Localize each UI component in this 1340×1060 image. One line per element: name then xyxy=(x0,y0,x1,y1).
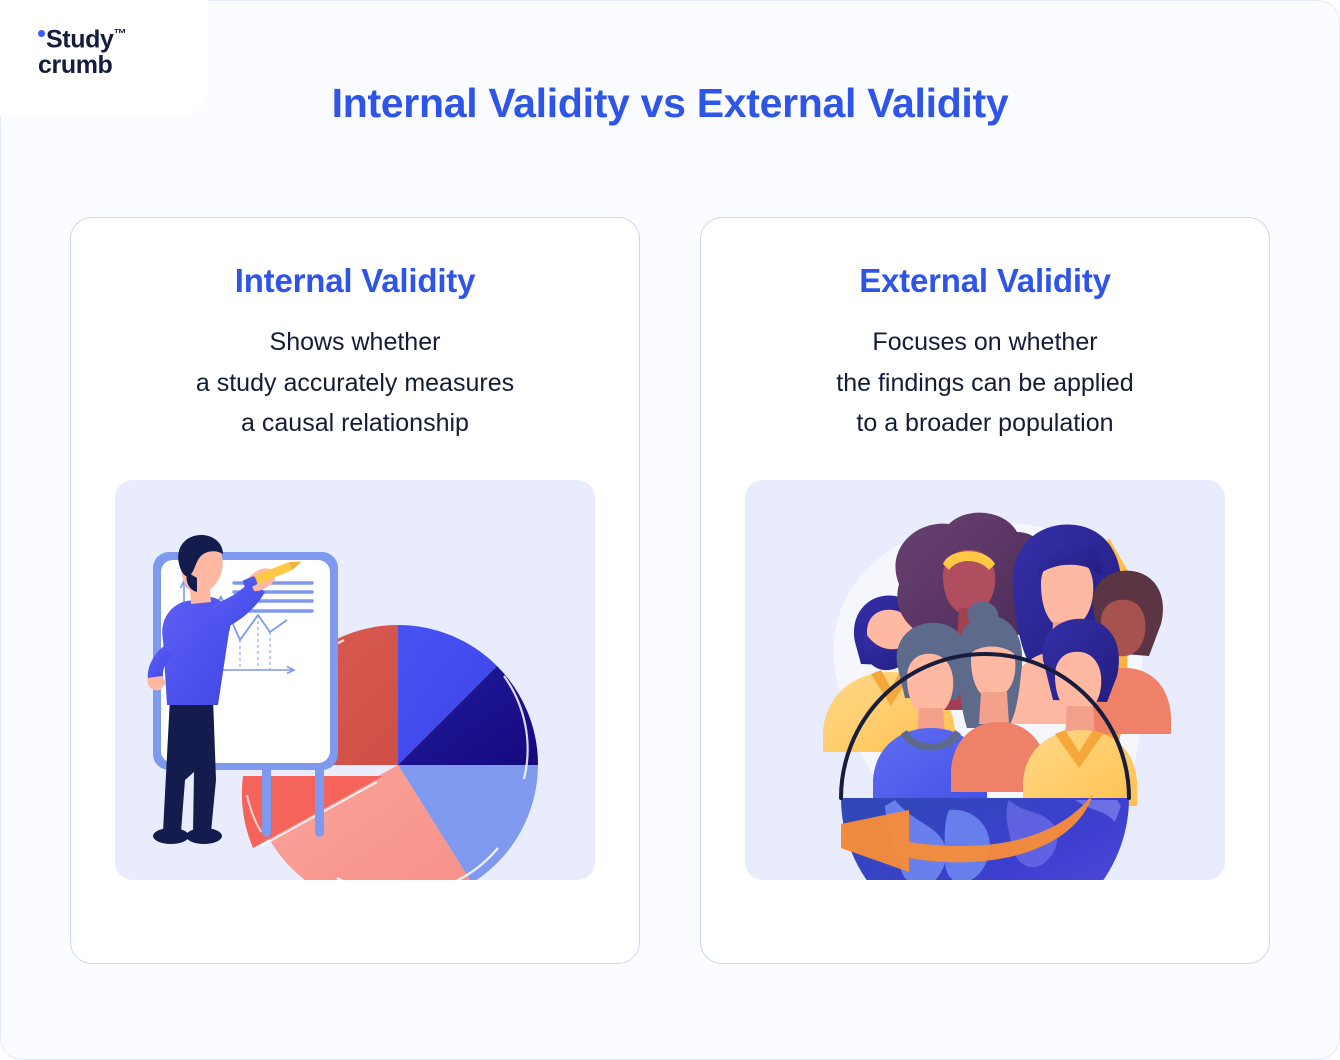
illustration-panel-internal xyxy=(115,480,595,880)
person-shoe-right xyxy=(186,828,222,844)
diverse-people-globe-illustration xyxy=(745,480,1225,880)
brand-logo-line-1: Study™ xyxy=(38,27,126,53)
comparison-cards: Internal Validity Shows whether a study … xyxy=(70,217,1270,964)
description-line: a study accurately measures xyxy=(196,363,514,404)
description-line: Focuses on whether xyxy=(836,322,1133,363)
easel-leg-mid xyxy=(262,765,271,837)
person-pants xyxy=(163,698,216,832)
description-line: to a broader population xyxy=(836,403,1133,444)
card-internal-validity: Internal Validity Shows whether a study … xyxy=(70,217,640,964)
person-neck xyxy=(979,692,1009,724)
brand-dot-icon xyxy=(38,30,45,37)
description-line: the findings can be applied xyxy=(836,363,1133,404)
description-line: a causal relationship xyxy=(196,403,514,444)
pie-chart-presentation-illustration xyxy=(115,480,595,880)
card-title-external: External Validity xyxy=(859,262,1111,300)
trademark-icon: ™ xyxy=(113,26,126,41)
description-line: Shows whether xyxy=(196,322,514,363)
infographic-canvas: Study™ crumb Internal Validity vs Extern… xyxy=(0,0,1340,1060)
person-shoe-left xyxy=(153,828,189,844)
brand-logo-line-2: crumb xyxy=(38,53,126,79)
card-external-validity: External Validity Focuses on whether the… xyxy=(700,217,1270,964)
brand-name-study: Study xyxy=(46,25,113,53)
easel-leg-right xyxy=(315,765,324,837)
card-description-external: Focuses on whether the findings can be a… xyxy=(836,322,1133,444)
illustration-panel-external xyxy=(745,480,1225,880)
card-title-internal: Internal Validity xyxy=(235,262,476,300)
card-description-internal: Shows whether a study accurately measure… xyxy=(196,322,514,444)
logo-badge: Study™ crumb xyxy=(0,0,208,115)
brand-logo: Study™ crumb xyxy=(38,27,126,78)
